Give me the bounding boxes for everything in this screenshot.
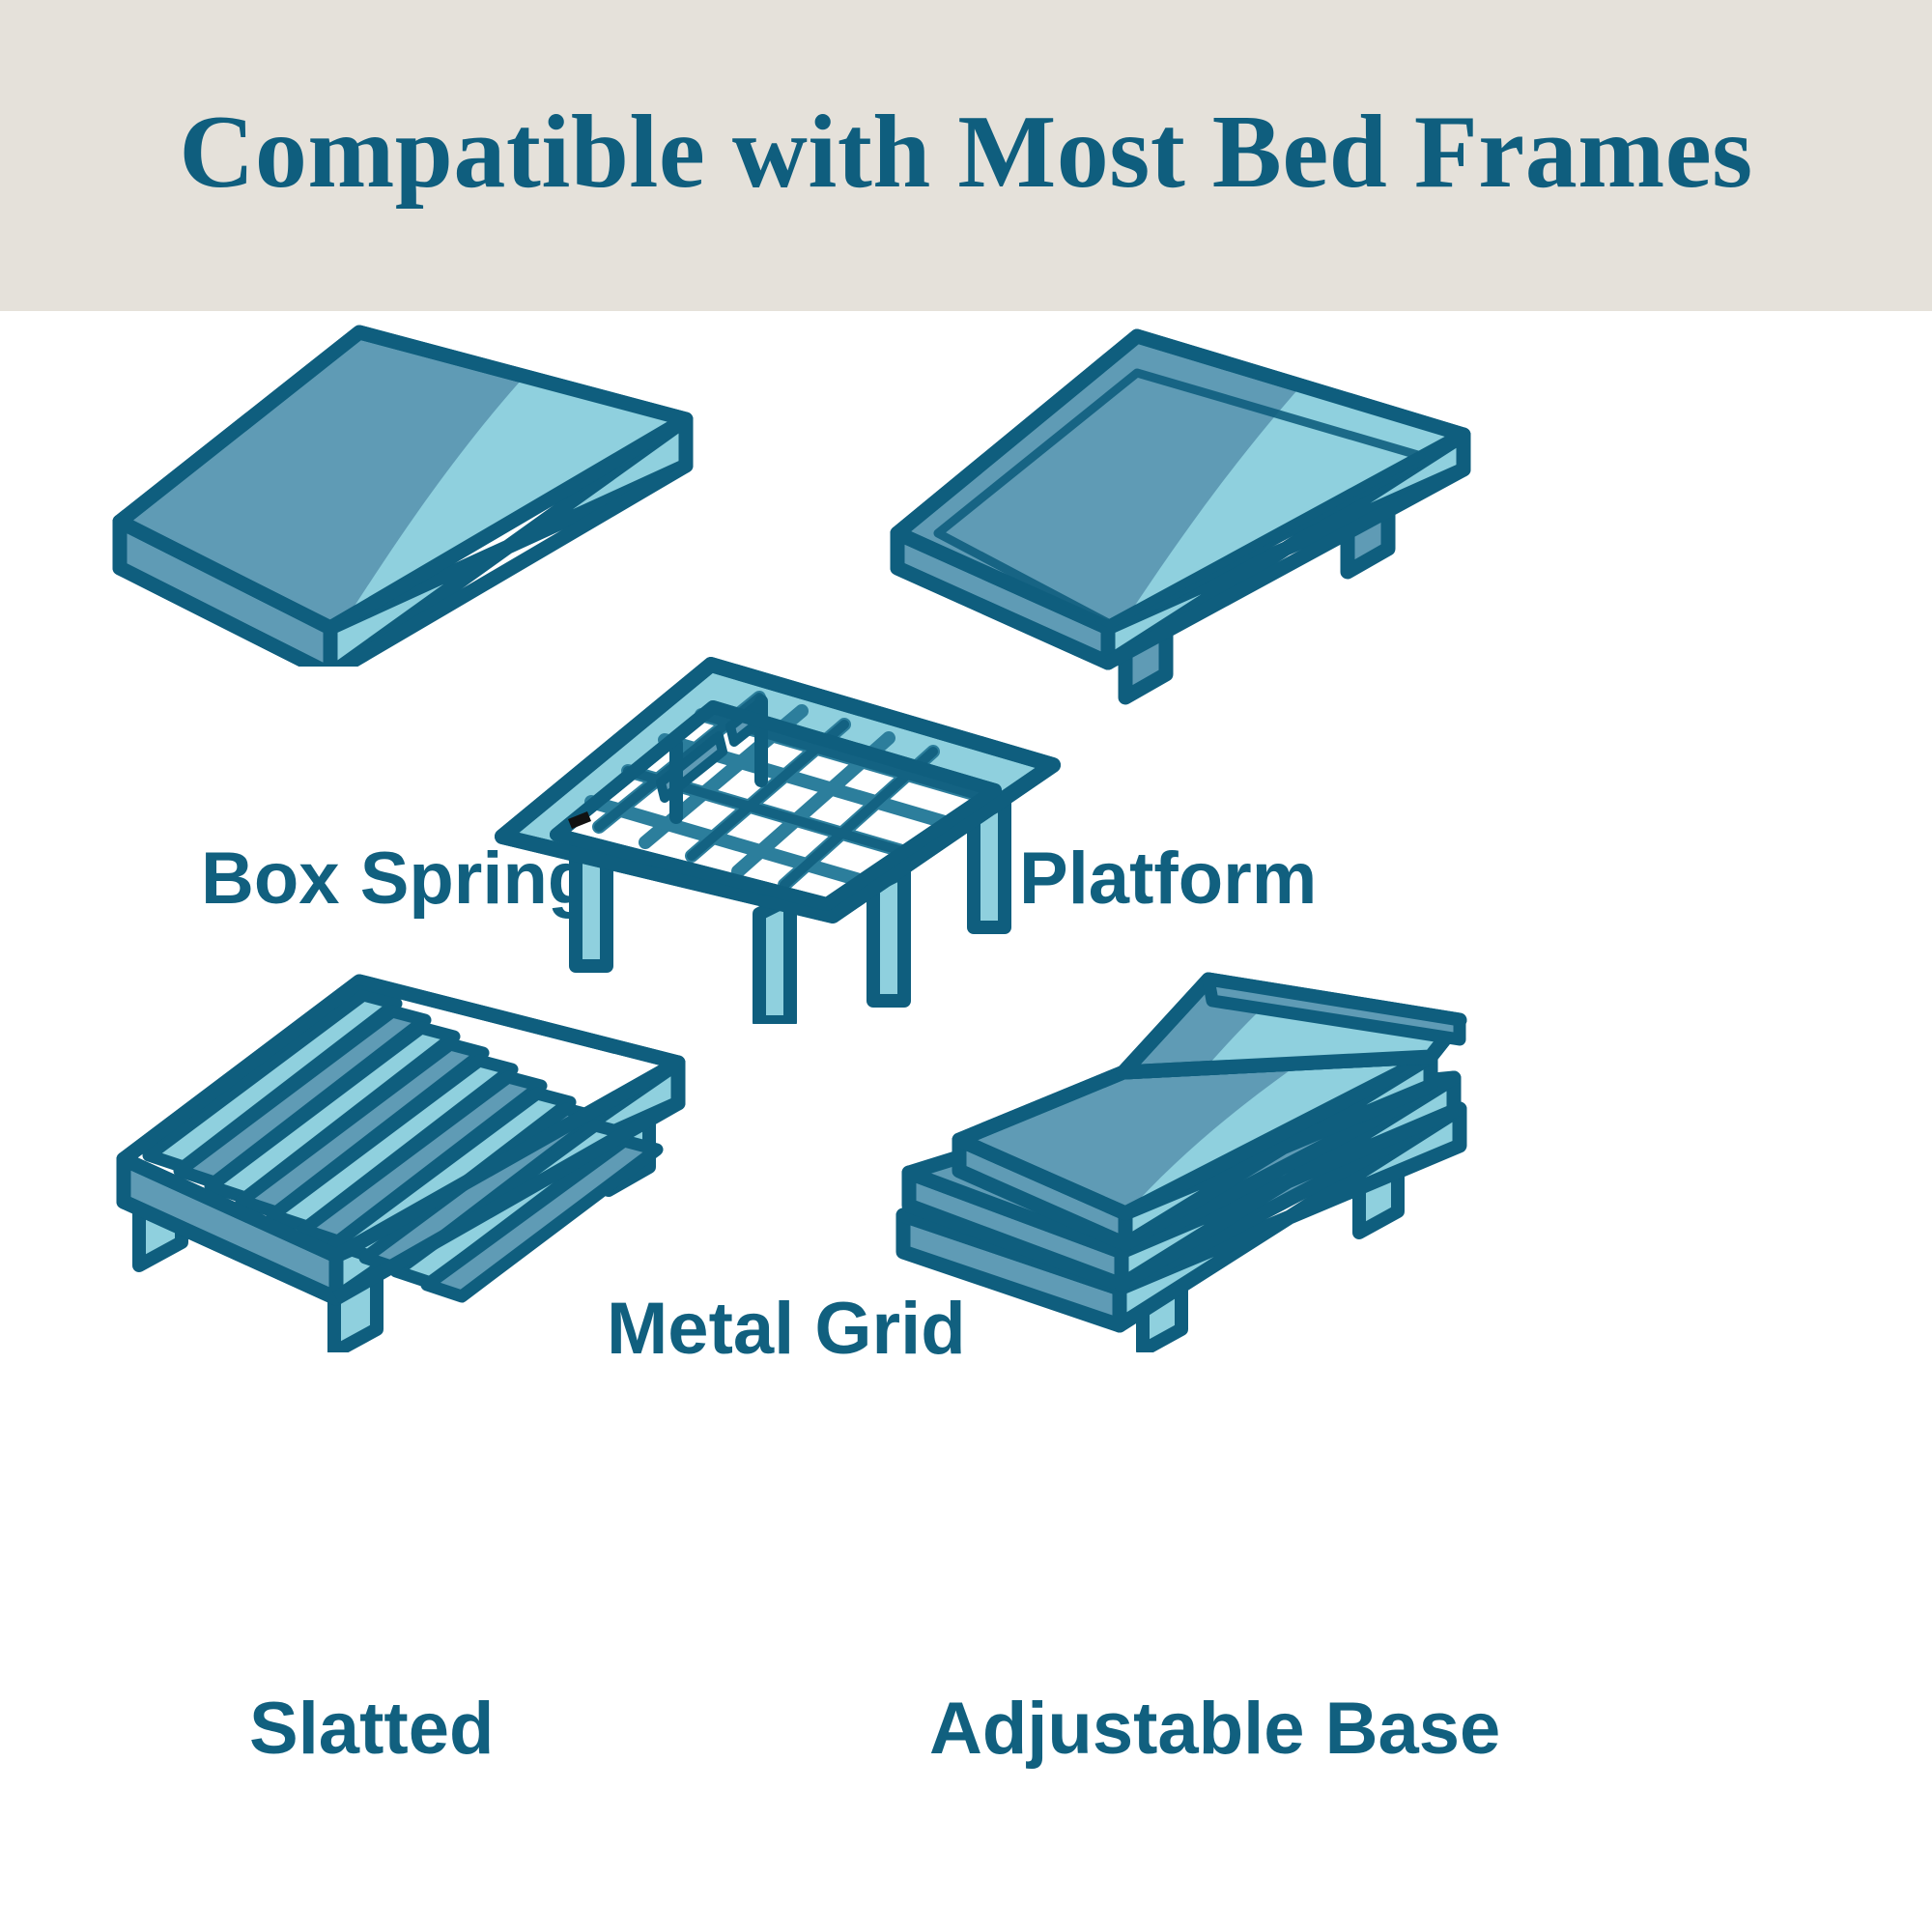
- header-band: Compatible with Most Bed Frames: [0, 0, 1932, 311]
- figure-platform: [884, 319, 1483, 667]
- adjustable-base-illustration: [884, 966, 1483, 1352]
- figure-slatted: [106, 966, 705, 1352]
- page-title: Compatible with Most Bed Frames: [179, 100, 1752, 205]
- figure-adjustable-base: [884, 966, 1483, 1352]
- infographic-canvas: Compatible with Most Bed Frames Box Spri…: [0, 0, 1932, 1932]
- figure-box-spring: [106, 319, 705, 667]
- label-adjustable-base: Adjustable Base: [929, 1692, 1500, 1766]
- box-spring-illustration: [106, 319, 705, 667]
- slatted-frame-illustration: [106, 966, 705, 1352]
- label-slatted: Slatted: [249, 1692, 494, 1766]
